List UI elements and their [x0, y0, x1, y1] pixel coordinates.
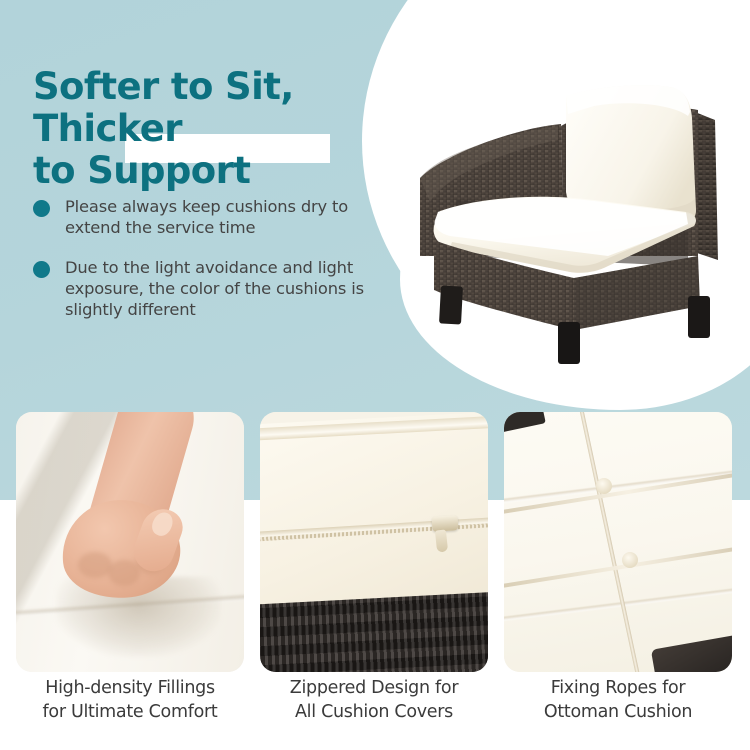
list-item: Due to the light avoidance and light exp…	[33, 257, 393, 320]
photo-hand-pressing-cushion	[16, 412, 244, 672]
caption-row: High-density Fillings for Ultimate Comfo…	[0, 676, 750, 750]
knuckle	[78, 552, 112, 578]
cushion-seam	[504, 467, 732, 505]
feature-photo-2	[260, 412, 488, 672]
rope-knot	[596, 478, 612, 494]
zipper-tab	[435, 529, 448, 552]
feature-caption-2: Zippered Design for All Cushion Covers	[260, 676, 488, 724]
feature-caption-1: High-density Fillings for Ultimate Comfo…	[16, 676, 244, 724]
feature-photo-1	[16, 412, 244, 672]
knuckle	[108, 560, 140, 586]
bullet-text: Please always keep cushions dry to exten…	[65, 196, 393, 238]
fixing-rope-vertical	[579, 412, 641, 672]
bullet-list: Please always keep cushions dry to exten…	[33, 196, 393, 339]
wicker-corner-top	[504, 412, 546, 433]
product-feature-poster: Softer to Sit, Thicker to Support Please…	[0, 0, 750, 750]
page-title: Softer to Sit, Thicker to Support	[33, 66, 413, 192]
list-item: Please always keep cushions dry to exten…	[33, 196, 393, 238]
bullet-dot-icon	[33, 200, 50, 217]
photo-zippered-cushion	[260, 412, 488, 672]
hero-product-photo	[398, 60, 738, 380]
headline-block: Softer to Sit, Thicker to Support	[33, 66, 413, 192]
bullet-dot-icon	[33, 261, 50, 278]
feature-caption-3: Fixing Ropes for Ottoman Cushion	[504, 676, 732, 724]
wicker-corner-bottom	[651, 631, 732, 672]
bullet-text: Due to the light avoidance and light exp…	[65, 257, 393, 320]
rope-knot	[622, 552, 638, 568]
photo-fixing-ropes	[504, 412, 732, 672]
feature-panel-row	[0, 412, 750, 674]
wicker-frame	[260, 591, 488, 672]
feature-photo-3	[504, 412, 732, 672]
